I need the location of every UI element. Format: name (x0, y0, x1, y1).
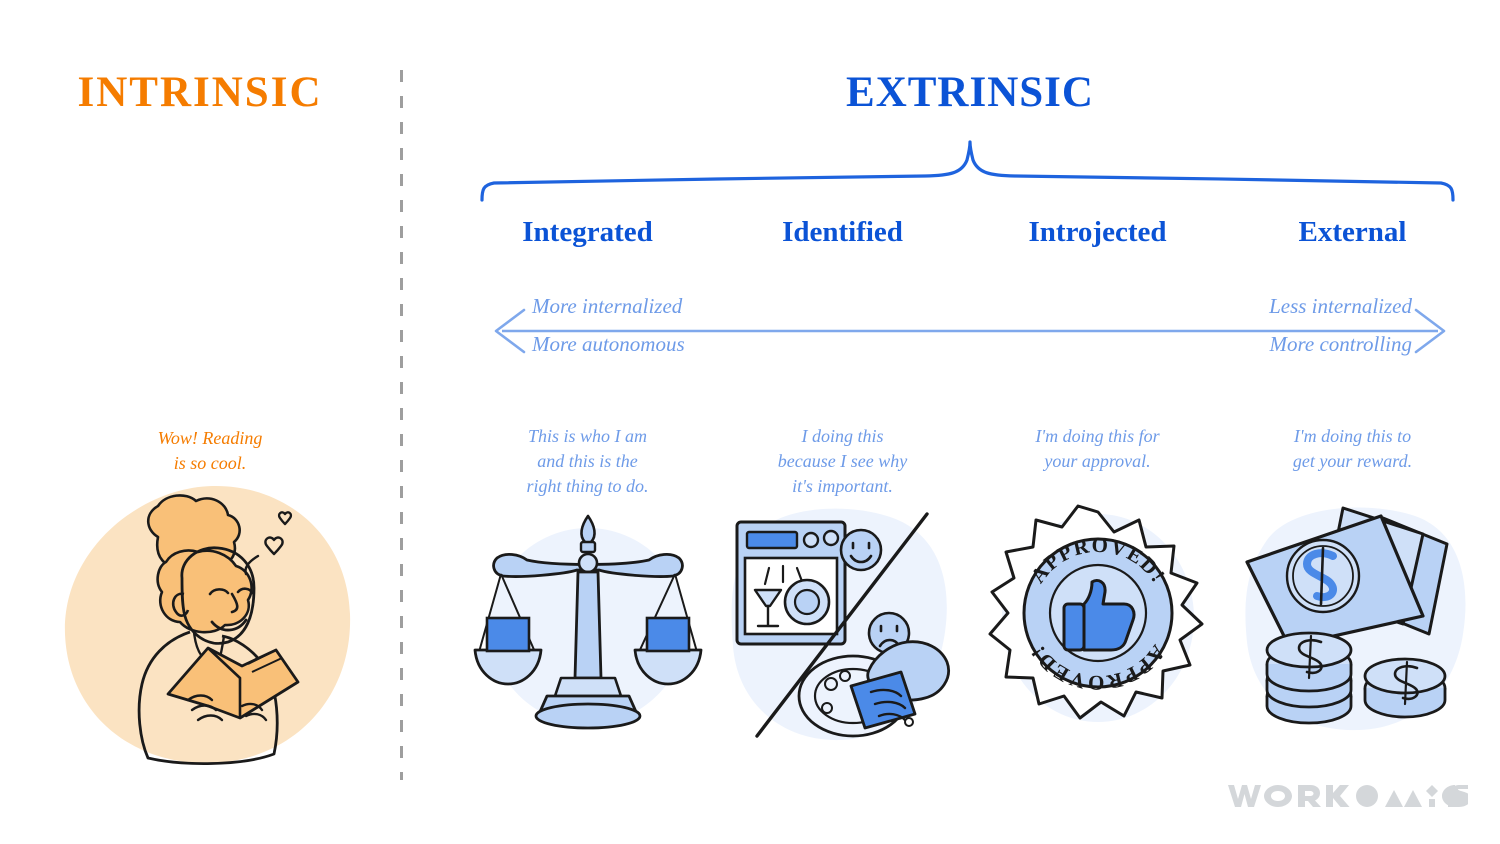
watermark-workomics (1228, 780, 1468, 810)
axis-label-right-top: Less internalized (1269, 294, 1412, 319)
person-reading-book-icon (62, 482, 354, 768)
illustration-approved-badge: APPROVED! APPROVED! (970, 500, 1225, 770)
money-banknotes-coins-icon (1233, 500, 1473, 740)
infographic-canvas: INTRINSIC EXTRINSIC Integrated Identifie… (0, 0, 1500, 844)
approved-badge-thumbs-up-icon: APPROVED! APPROVED! (988, 500, 1208, 740)
category-header-row: Integrated Identified Introjected Extern… (460, 212, 1480, 258)
category-label-integrated: Integrated (460, 212, 715, 258)
divider-dashes-icon (400, 70, 403, 780)
page-title-extrinsic: EXTRINSIC (500, 68, 1440, 117)
curly-brace-icon (480, 140, 1455, 202)
illustration-balance-scales (460, 500, 715, 770)
illustration-person-reading (62, 482, 354, 768)
quote-introjected: I'm doing this for your approval. (970, 424, 1225, 504)
category-label-external: External (1225, 212, 1480, 258)
quote-identified: I doing this because I see why it's impo… (715, 424, 970, 504)
page-title-intrinsic: INTRINSIC (0, 68, 400, 117)
category-label-introjected: Introjected (970, 212, 1225, 258)
illustration-money (1225, 500, 1480, 770)
continuum-axis: More internalized More autonomous Less i… (480, 290, 1460, 370)
axis-label-right-bottom: More controlling (1269, 332, 1412, 357)
quote-row: This is who I am and this is the right t… (460, 424, 1480, 504)
intrinsic-caption: Wow! Reading is so cool. (60, 426, 360, 476)
balance-scales-icon (473, 500, 703, 750)
axis-label-left-bottom: More autonomous (532, 332, 685, 357)
workomics-logo-icon (1228, 780, 1468, 810)
illustration-row: APPROVED! APPROVED! (460, 500, 1480, 770)
extrinsic-brace (480, 140, 1455, 202)
axis-label-left-top: More internalized (532, 294, 682, 319)
category-label-identified: Identified (715, 212, 970, 258)
section-divider (400, 70, 403, 780)
dishwasher-handwash-compare-icon (723, 500, 963, 750)
quote-external: I'm doing this to get your reward. (1225, 424, 1480, 504)
illustration-dishwasher-vs-handwashing (715, 500, 970, 770)
quote-integrated: This is who I am and this is the right t… (460, 424, 715, 504)
